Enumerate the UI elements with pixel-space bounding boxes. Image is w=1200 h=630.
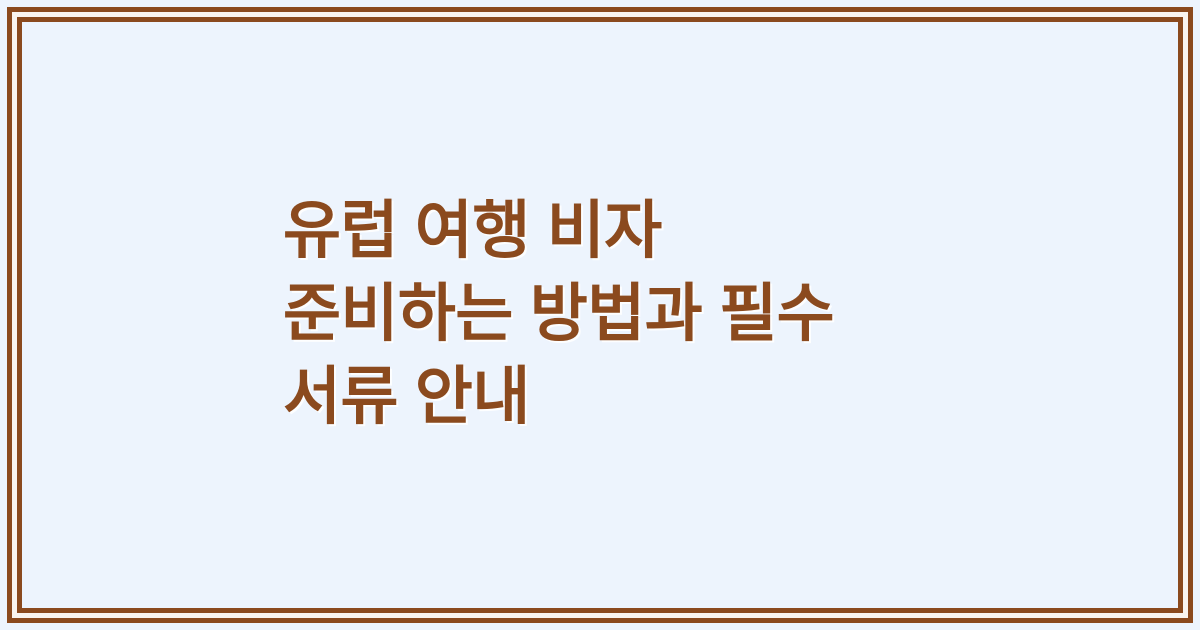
title-line-3: 서류 안내 bbox=[283, 356, 983, 439]
thumbnail-canvas: 유럽 여행 비자 준비하는 방법과 필수 서류 안내 bbox=[0, 0, 1200, 630]
content-plate: 유럽 여행 비자 준비하는 방법과 필수 서류 안내 bbox=[22, 22, 1178, 608]
page-title: 유럽 여행 비자 준비하는 방법과 필수 서류 안내 bbox=[283, 190, 983, 439]
title-line-1: 유럽 여행 비자 bbox=[283, 190, 983, 273]
title-line-2: 준비하는 방법과 필수 bbox=[283, 273, 983, 356]
